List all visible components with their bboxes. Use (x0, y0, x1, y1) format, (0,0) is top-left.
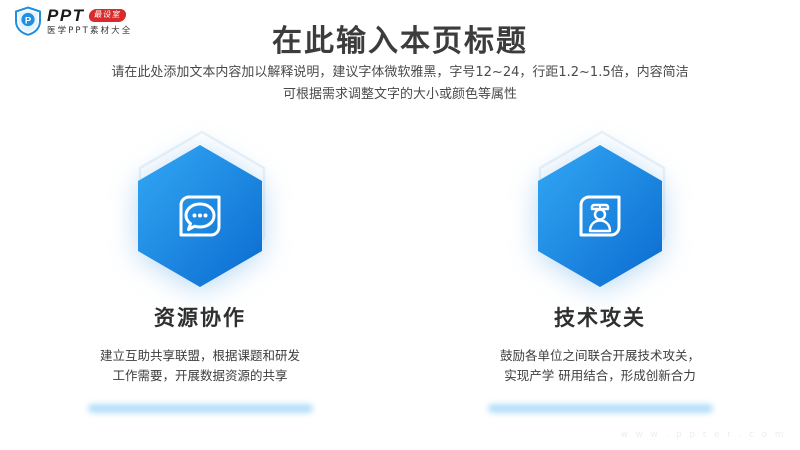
hexagon-badge-1[interactable] (125, 130, 275, 290)
feature-column-2: 技术攻关 鼓励各单位之间联合开展技术攻关， 实现产学 研用结合，形成创新合力 (400, 130, 800, 413)
chat-bubble-icon (135, 143, 265, 289)
underline-bar-1 (88, 404, 313, 413)
hexagon-badge-2[interactable] (525, 130, 675, 290)
subtitle-line-1: 请在此处添加文本内容加以解释说明，建议字体微软雅黑，字号12~24，行距1.2~… (0, 62, 800, 84)
feature-body-2-line-1: 鼓励各单位之间联合开展技术攻关， (500, 346, 700, 366)
feature-body-1-line-2: 工作需要，开展数据资源的共享 (100, 366, 300, 386)
feature-body-1: 建立互助共享联盟，根据课题和研发 工作需要，开展数据资源的共享 (100, 346, 300, 386)
feature-heading-1: 资源协作 (154, 302, 246, 332)
feature-heading-2: 技术攻关 (554, 302, 646, 332)
feature-body-2-line-2: 实现产学 研用结合，形成创新合力 (500, 366, 700, 386)
page-subtitle: 请在此处添加文本内容加以解释说明，建议字体微软雅黑，字号12~24，行距1.2~… (0, 62, 800, 106)
feature-columns: 资源协作 建立互助共享联盟，根据课题和研发 工作需要，开展数据资源的共享 (0, 130, 800, 413)
watermark: w w w . p p t e r . c o m (620, 430, 786, 440)
subtitle-line-2: 可根据需求调整文字的大小或颜色等属性 (0, 84, 800, 106)
feature-body-1-line-1: 建立互助共享联盟，根据课题和研发 (100, 346, 300, 366)
underline-bar-2 (488, 404, 713, 413)
doctor-person-icon (535, 143, 665, 289)
feature-body-2: 鼓励各单位之间联合开展技术攻关， 实现产学 研用结合，形成创新合力 (500, 346, 700, 386)
page-title: 在此输入本页标题 (0, 16, 800, 60)
feature-column-1: 资源协作 建立互助共享联盟，根据课题和研发 工作需要，开展数据资源的共享 (0, 130, 400, 413)
